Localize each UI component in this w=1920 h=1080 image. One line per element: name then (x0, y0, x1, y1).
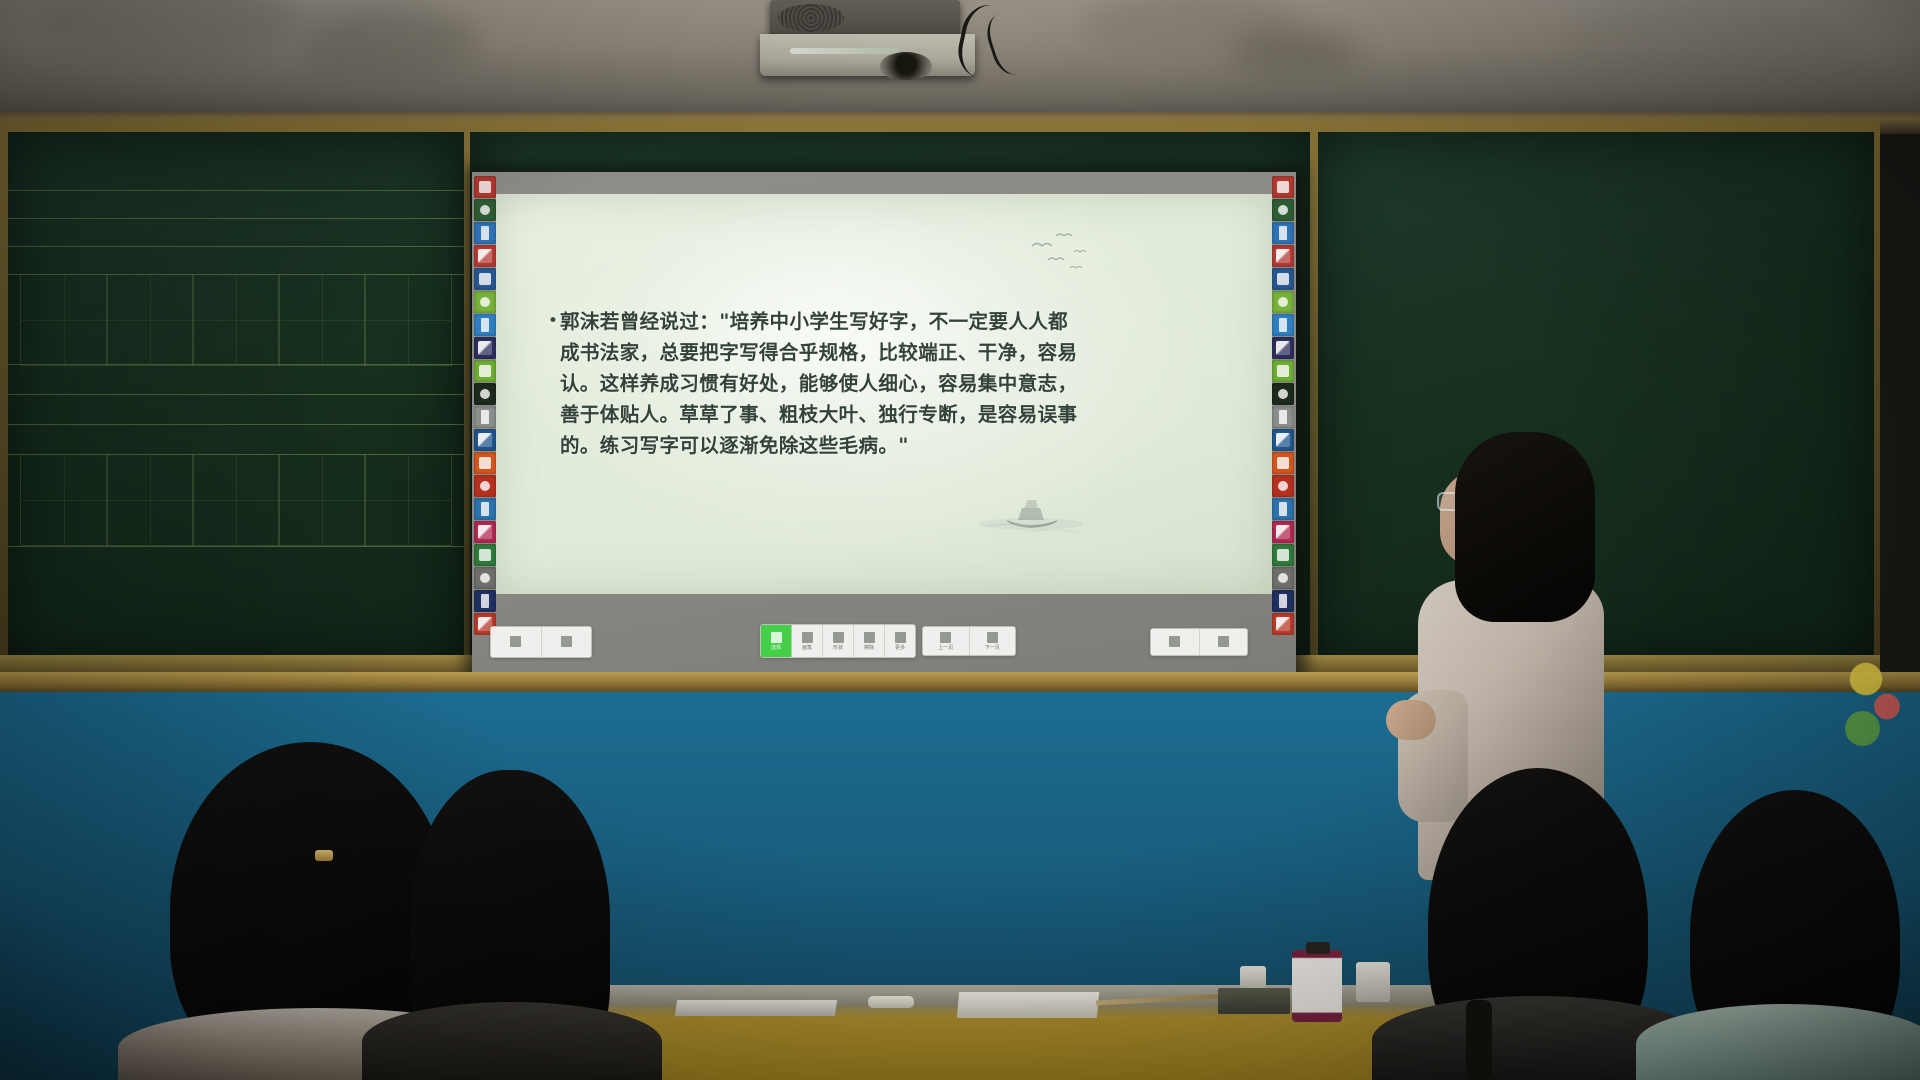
select-icon (771, 632, 782, 643)
whiteboard-tool-palette-left[interactable] (474, 176, 496, 635)
document-icon-glyph (481, 318, 489, 332)
grid-gray-icon[interactable] (474, 567, 496, 589)
powerpoint-slide[interactable]: • 郭沫若曾经说过："培养中小学生写好字，不一定要人人都 成书法家，总要把字写得… (496, 194, 1272, 594)
slide-bullet-line-3: 认。这样养成习惯有好处，能够使人细心，容易集中意志， (548, 368, 1208, 399)
bulb-icon (561, 636, 572, 647)
slide-text-block: • 郭沫若曾经说过："培养中小学生写好字，不一定要人人都 成书法家，总要把字写得… (548, 306, 1208, 461)
notebook-icon[interactable] (1272, 337, 1294, 359)
wall-stain-5 (1230, 30, 1360, 76)
chalkboard-panel-left (8, 132, 464, 664)
select-tool[interactable]: 选择 (761, 625, 792, 657)
grid-gray-icon-glyph (1278, 573, 1288, 583)
shape-tool-label: 形状 (833, 645, 843, 651)
more-tool-label: 更多 (895, 645, 905, 651)
slide-bullet-line-4: 善于体贴人。草草了事、粗枝大叶、独行专断，是容易误事 (548, 399, 1208, 430)
next-slide-button[interactable]: 下一页 (970, 627, 1016, 655)
slide-line-text: 成书法家，总要把字写得合乎规格，比较端正、干净，容易 (560, 337, 1077, 368)
document-icon[interactable] (1272, 314, 1294, 336)
grid-gray-icon[interactable] (1272, 567, 1294, 589)
marker-pink-icon[interactable] (474, 521, 496, 543)
window-icon-glyph (1279, 410, 1287, 424)
slide-line-text: 认。这样养成习惯有好处，能够使人细心，容易集中意志， (560, 368, 1077, 399)
wall-stain-2 (300, 10, 480, 80)
phone-icon-glyph (1278, 297, 1288, 307)
projector-vent (778, 4, 844, 32)
people-icon-glyph (478, 249, 492, 263)
pen-red-icon[interactable] (1272, 475, 1294, 497)
brush-blue-icon[interactable] (1272, 498, 1294, 520)
thermos-cup (1292, 950, 1342, 1022)
record-icon-glyph (479, 181, 491, 193)
window-icon-glyph (481, 410, 489, 424)
more-tool[interactable]: 更多 (885, 625, 915, 657)
pen-red-icon[interactable] (474, 475, 496, 497)
phone-icon-glyph (480, 297, 490, 307)
presentation-control-bar[interactable]: 选择画笔形状擦除更多 上一页下一页 (472, 594, 1296, 674)
settings-icon-icon (1218, 636, 1229, 647)
teacher-hand (1386, 700, 1436, 740)
people-icon[interactable] (1272, 245, 1294, 267)
search-icon-glyph (1277, 273, 1289, 285)
search-icon[interactable] (474, 268, 496, 290)
paper-tray (957, 992, 1099, 1018)
settings-icon[interactable] (1200, 629, 1248, 655)
pencil-orange-icon-glyph (479, 457, 491, 469)
chalk-eraser (868, 996, 914, 1008)
wall-stain-4 (1560, 0, 1860, 95)
student-far-right-shoulder (1636, 1004, 1920, 1080)
notebook-icon-glyph (478, 341, 492, 355)
more-icon (895, 632, 906, 643)
camera-icon[interactable] (474, 199, 496, 221)
eraser-tool-label: 擦除 (864, 645, 874, 651)
camera-icon-glyph (480, 205, 490, 215)
left-status-group[interactable] (490, 626, 592, 658)
student-left-hairpin (315, 850, 333, 861)
document-icon[interactable] (474, 314, 496, 336)
slide-line-text: 善于体贴人。草草了事、粗枝大叶、独行专断，是容易误事 (560, 399, 1077, 430)
brush-blue-icon[interactable] (474, 498, 496, 520)
pencil-orange-icon[interactable] (474, 452, 496, 474)
shape-tool[interactable]: 形状 (823, 625, 854, 657)
brush-blue-icon-glyph (1279, 502, 1287, 516)
marker-pink-icon-glyph (1276, 525, 1290, 539)
chalkboard-panel-right (1318, 132, 1874, 664)
slide-bullet-line-2: 成书法家，总要把字写得合乎规格，比较端正、干净，容易 (548, 337, 1208, 368)
people-icon-glyph (1276, 249, 1290, 263)
classroom-scene: • 郭沫若曾经说过："培养中小学生写好字，不一定要人人都 成书法家，总要把字写得… (0, 0, 1920, 1080)
calculator-icon[interactable] (1272, 429, 1294, 451)
projection-screen: • 郭沫若曾经说过："培养中小学生写好字，不一定要人人都 成书法家，总要把字写得… (472, 172, 1296, 674)
search-icon[interactable] (1272, 268, 1294, 290)
chalk-box (1218, 988, 1290, 1014)
prev-slide-button[interactable]: 上一页 (923, 627, 970, 655)
folder-dark-icon[interactable] (474, 383, 496, 405)
practice-grid (8, 132, 464, 664)
brush-blue-icon-glyph (481, 502, 489, 516)
calculator-icon-glyph (478, 433, 492, 447)
leaf-green-icon[interactable] (1272, 544, 1294, 566)
share-icon[interactable] (1272, 222, 1294, 244)
pen-red-icon-glyph (1278, 481, 1288, 491)
window-icon[interactable] (474, 406, 496, 428)
exit-icon (1169, 636, 1180, 647)
wainscot-trim (0, 672, 1920, 692)
pen-tool-label: 画笔 (802, 645, 812, 651)
page-icon-glyph (1277, 365, 1289, 377)
whiteboard-tool-palette-right[interactable] (1272, 176, 1294, 635)
camera-icon[interactable] (1272, 199, 1294, 221)
folder-dark-icon-glyph (480, 389, 490, 399)
people-icon[interactable] (474, 245, 496, 267)
next-slide-button-label: 下一页 (985, 645, 1000, 651)
papers (675, 1000, 837, 1016)
pen-icon (802, 632, 813, 643)
notebook-icon[interactable] (474, 337, 496, 359)
record-icon-glyph (1277, 181, 1289, 193)
slide-line-text: 郭沫若曾经说过："培养中小学生写好字，不一定要人人都 (560, 306, 1068, 337)
cup-right (1356, 962, 1390, 1002)
select-tool-label: 选择 (771, 645, 781, 651)
camera-icon-glyph (1278, 205, 1288, 215)
annotation-tools-group[interactable]: 选择画笔形状擦除更多 (760, 624, 916, 658)
student-center-shoulder (362, 1002, 662, 1080)
pen-tool[interactable]: 画笔 (792, 625, 823, 657)
page-icon[interactable] (474, 360, 496, 382)
small-cup (1240, 966, 1266, 988)
ink-wash-boat-illustration (966, 474, 1096, 544)
thumbnail-icon (510, 636, 521, 647)
pencil-orange-icon[interactable] (1272, 452, 1294, 474)
pencil-orange-icon-glyph (1277, 457, 1289, 469)
page-icon-glyph (479, 365, 491, 377)
marker-pink-icon-glyph (478, 525, 492, 539)
leaf-green-icon-glyph (479, 549, 491, 561)
playback-group[interactable]: 上一页下一页 (922, 626, 1016, 656)
bulb-button[interactable] (542, 627, 592, 657)
calculator-icon[interactable] (474, 429, 496, 451)
right-status-group[interactable] (1150, 628, 1248, 656)
record-icon[interactable] (1272, 176, 1294, 198)
phone-icon[interactable] (474, 291, 496, 313)
leaf-green-icon[interactable] (474, 544, 496, 566)
pen-red-icon-glyph (480, 481, 490, 491)
grid-gray-icon-glyph (480, 573, 490, 583)
page-icon[interactable] (1272, 360, 1294, 382)
document-icon-glyph (1279, 318, 1287, 332)
next-slide-icon (987, 632, 998, 643)
ceiling-projector (760, 34, 975, 76)
eraser-tool[interactable]: 擦除 (854, 625, 885, 657)
prev-slide-button-label: 上一页 (938, 645, 953, 651)
decor-flowers (1838, 646, 1908, 756)
thumbnail-button[interactable] (491, 627, 542, 657)
birds-decoration (1026, 230, 1116, 278)
slide-bullet-line-5: 的。练习写字可以逐渐免除这些毛病。" (548, 430, 1208, 461)
teacher-hair (1455, 432, 1595, 622)
record-icon[interactable] (474, 176, 496, 198)
projector-lens (880, 52, 932, 80)
student-right-backpack-strap (1466, 1000, 1492, 1080)
notebook-icon-glyph (1276, 341, 1290, 355)
folder-dark-icon-glyph (1278, 389, 1288, 399)
share-icon-glyph (1279, 226, 1287, 240)
shape-icon (833, 632, 844, 643)
slide-line-text: 的。练习写字可以逐渐免除这些毛病。" (560, 430, 909, 461)
marker-pink-icon[interactable] (1272, 521, 1294, 543)
folder-dark-icon[interactable] (1272, 383, 1294, 405)
slide-bullet-line-1: • 郭沫若曾经说过："培养中小学生写好字，不一定要人人都 (548, 306, 1208, 337)
calculator-icon-glyph (1276, 433, 1290, 447)
share-icon[interactable] (474, 222, 496, 244)
share-icon-glyph (481, 226, 489, 240)
window-icon[interactable] (1272, 406, 1294, 428)
prev-slide-icon (940, 632, 951, 643)
projector-strip (790, 48, 900, 54)
search-icon-glyph (479, 273, 491, 285)
bullet-marker-icon: • (548, 306, 560, 336)
thermos-lid (1306, 942, 1330, 954)
exit-button[interactable] (1151, 629, 1200, 655)
leaf-green-icon-glyph (1277, 549, 1289, 561)
eraser-icon (864, 632, 875, 643)
phone-icon[interactable] (1272, 291, 1294, 313)
